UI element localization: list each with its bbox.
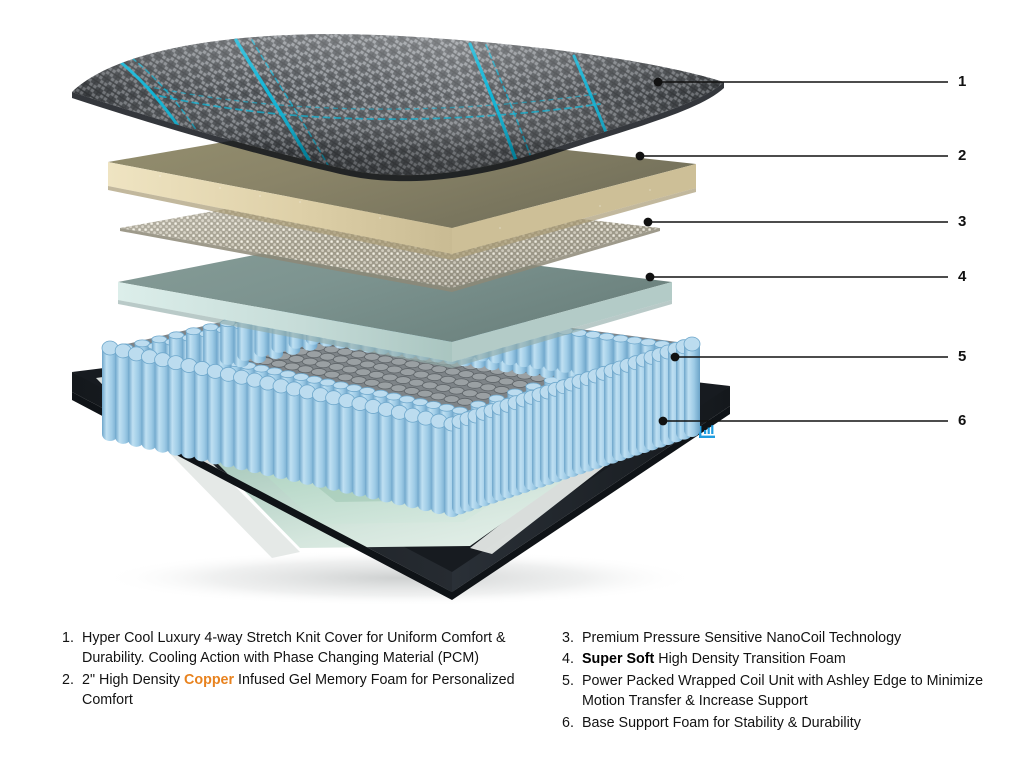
caption-text: 2" High Density Copper Infused Gel Memor… [82, 670, 552, 711]
mattress-svg [0, 0, 1024, 615]
leader-dot-1 [654, 78, 663, 87]
leader-number-1: 1 [958, 74, 966, 89]
caption-block: 1.Hyper Cool Luxury 4-way Stretch Knit C… [0, 628, 1024, 768]
caption-text: Power Packed Wrapped Coil Unit with Ashl… [582, 671, 992, 712]
caption-number: 2. [62, 670, 82, 690]
caption-run: 2" High Density [82, 672, 184, 688]
caption-number: 6. [562, 713, 582, 733]
leader-dot-3 [644, 218, 653, 227]
caption-run: Premium Pressure Sensitive NanoCoil Tech… [582, 630, 901, 646]
leader-number-5: 5 [958, 349, 966, 364]
leader-dot-4 [646, 273, 655, 282]
caption-text: Super Soft High Density Transition Foam [582, 649, 992, 669]
bold-highlight: Super Soft [582, 651, 654, 667]
caption-column-right: 3.Premium Pressure Sensitive NanoCoil Te… [562, 628, 992, 734]
caption-number: 1. [62, 628, 82, 648]
caption-run: High Density Transition Foam [654, 651, 846, 667]
caption-run: Power Packed Wrapped Coil Unit with Ashl… [582, 673, 983, 709]
caption-number: 4. [562, 649, 582, 669]
caption-text: Hyper Cool Luxury 4-way Stretch Knit Cov… [82, 628, 552, 669]
caption-column-left: 1.Hyper Cool Luxury 4-way Stretch Knit C… [62, 628, 552, 712]
caption-run: Base Support Foam for Stability & Durabi… [582, 715, 861, 731]
leader-number-4: 4 [958, 269, 966, 284]
caption-run: Hyper Cool Luxury 4-way Stretch Knit Cov… [82, 630, 505, 666]
caption-item: 2.2" High Density Copper Infused Gel Mem… [62, 670, 552, 711]
caption-item: 3.Premium Pressure Sensitive NanoCoil Te… [562, 628, 992, 648]
caption-item: 6.Base Support Foam for Stability & Dura… [562, 713, 992, 733]
caption-number: 5. [562, 671, 582, 691]
leader-number-6: 6 [958, 413, 966, 428]
mattress-layer-diagram-page: 123456 1.Hyper Cool Luxury 4-way Stretch… [0, 0, 1024, 768]
caption-item: 4.Super Soft High Density Transition Foa… [562, 649, 992, 669]
leader-dot-6 [659, 417, 668, 426]
caption-text: Base Support Foam for Stability & Durabi… [582, 713, 992, 733]
caption-item: 1.Hyper Cool Luxury 4-way Stretch Knit C… [62, 628, 552, 669]
leader-dot-2 [636, 152, 645, 161]
caption-number: 3. [562, 628, 582, 648]
leader-number-2: 2 [958, 148, 966, 163]
caption-text: Premium Pressure Sensitive NanoCoil Tech… [582, 628, 992, 648]
exploded-mattress-illustration: 123456 [0, 0, 1024, 615]
leader-dot-5 [671, 353, 680, 362]
copper-highlight: Copper [184, 672, 234, 688]
caption-item: 5.Power Packed Wrapped Coil Unit with As… [562, 671, 992, 712]
leader-number-3: 3 [958, 214, 966, 229]
